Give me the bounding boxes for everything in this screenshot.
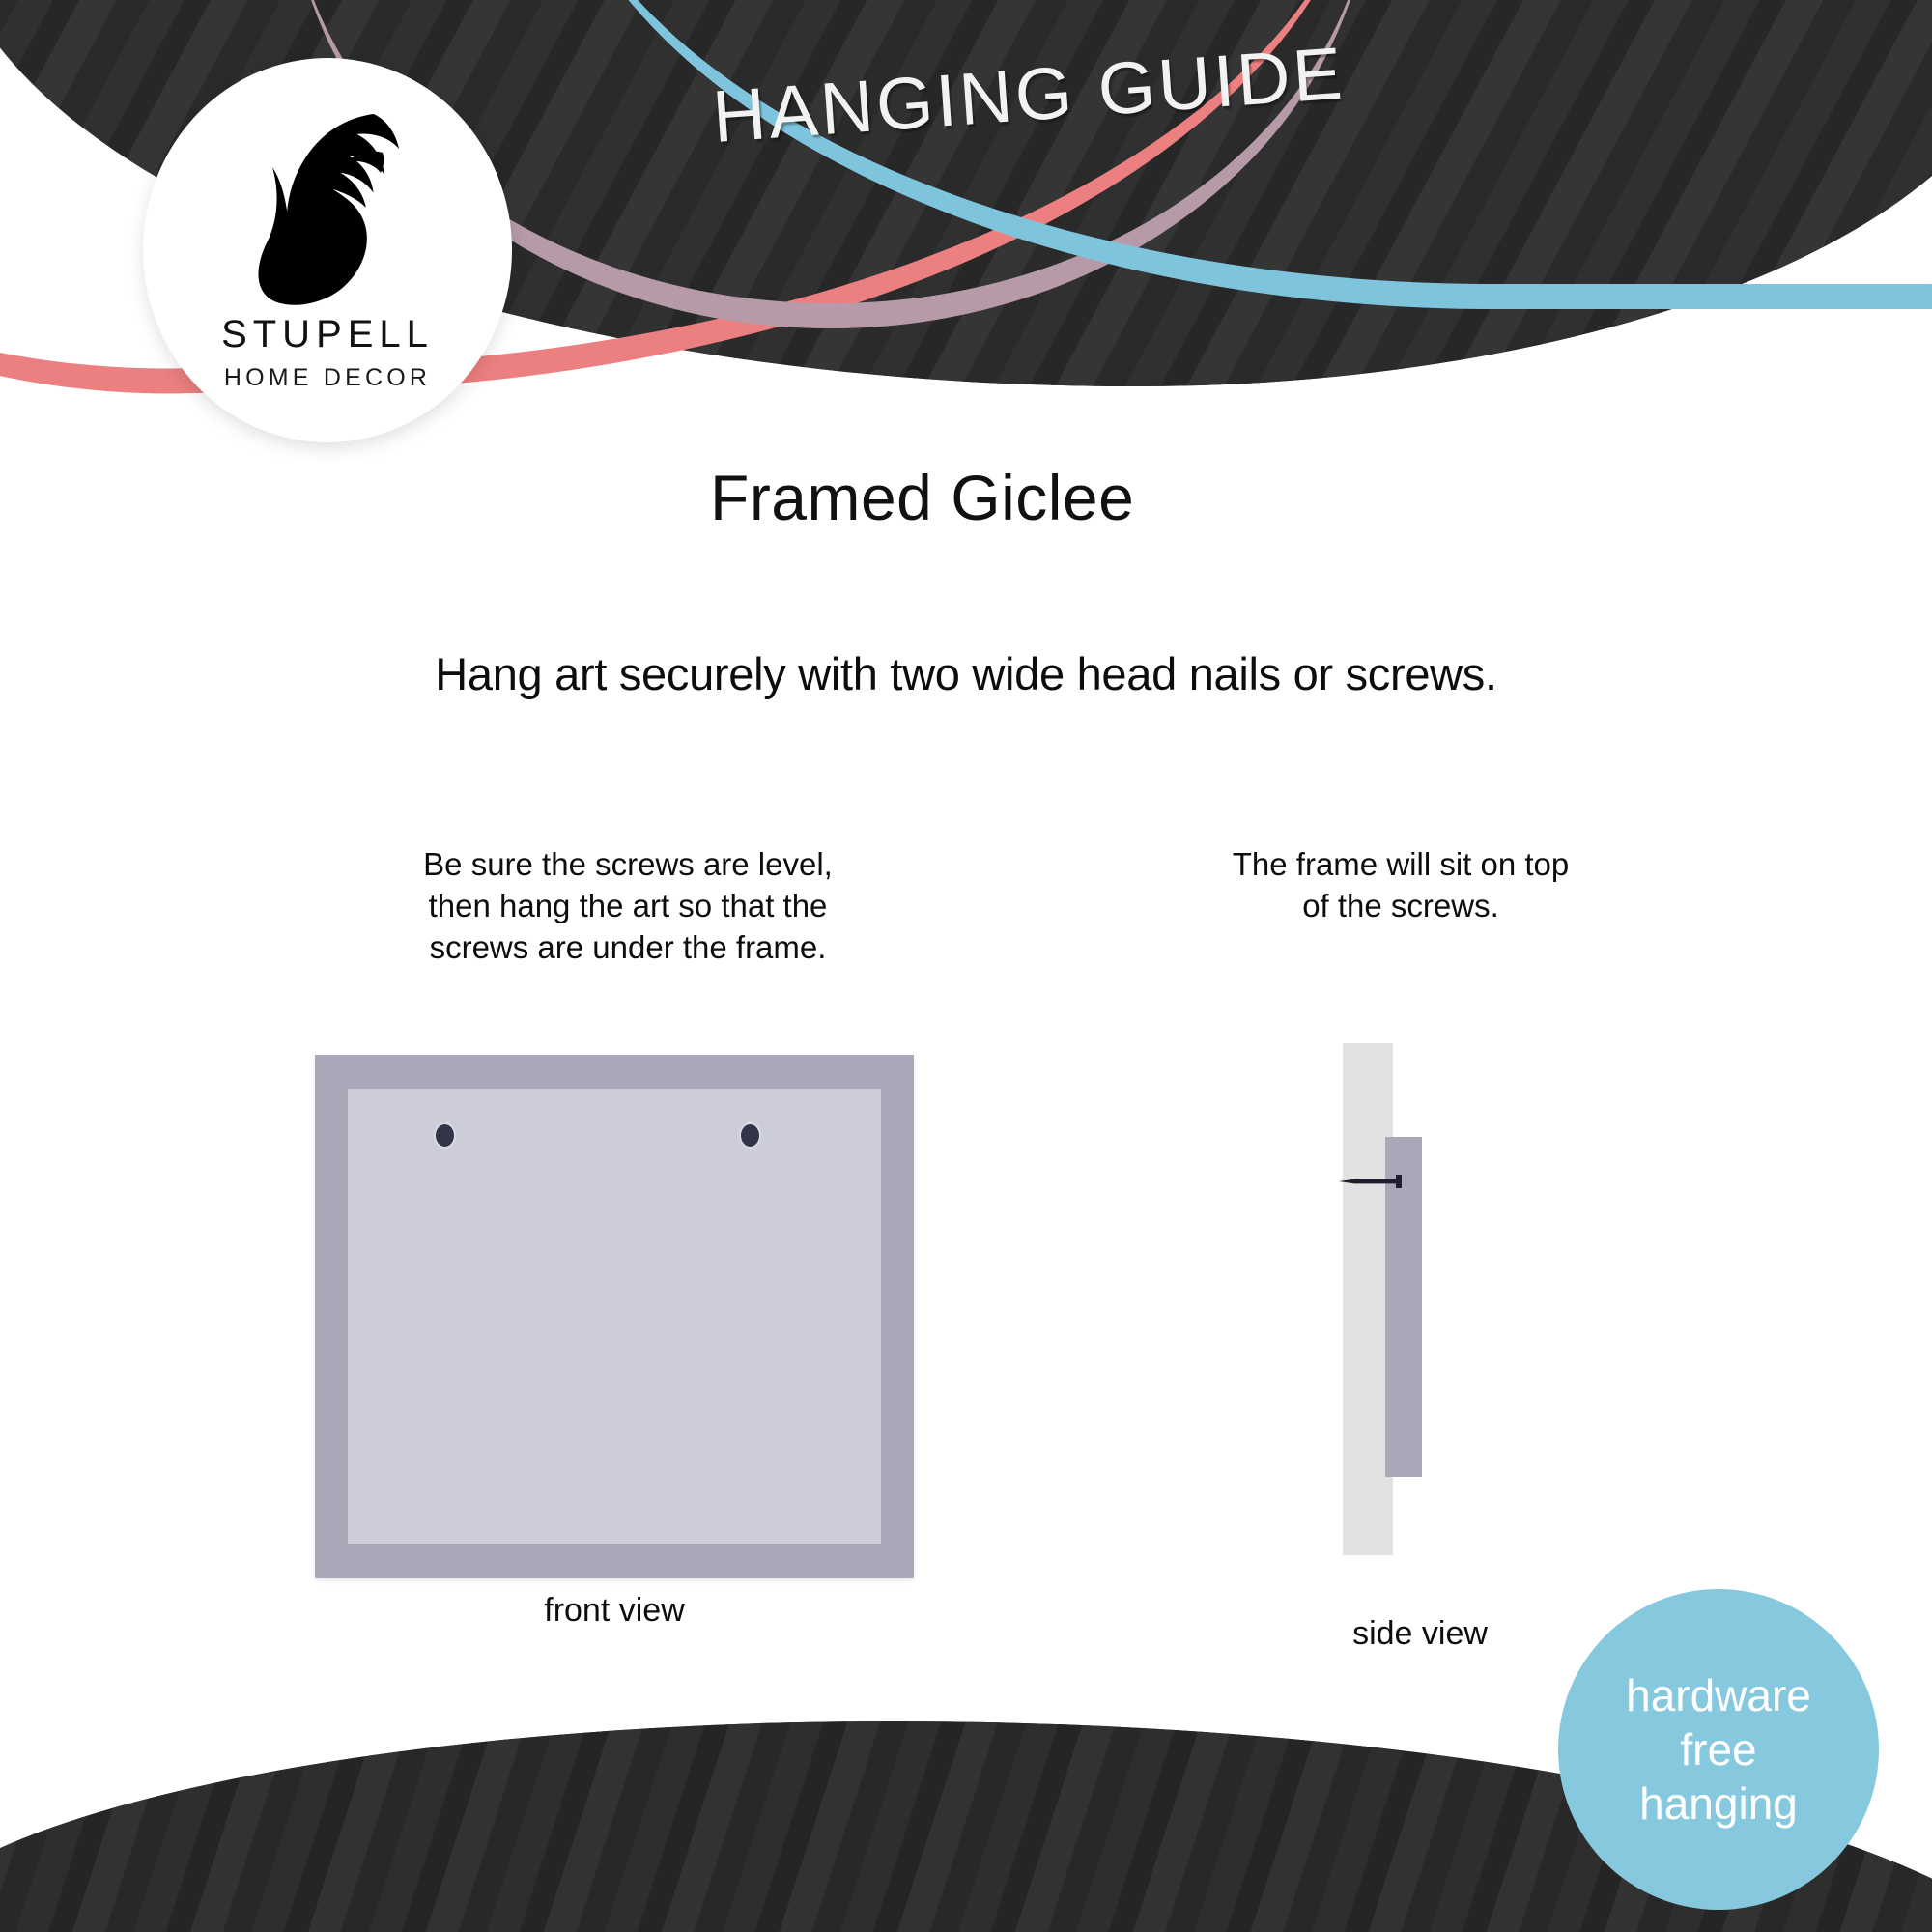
front-view-diagram	[315, 1055, 914, 1578]
front-view-caption-line1: Be sure the screws are level,	[241, 844, 1014, 886]
front-view-mat	[348, 1089, 881, 1544]
side-view-caption-line2: of the screws.	[1130, 886, 1671, 927]
brand-logo-badge: STUPELL HOME DECOR	[143, 58, 512, 442]
badge-line-2: free	[1680, 1722, 1756, 1776]
badge-line-1: hardware	[1626, 1668, 1811, 1722]
side-view-caption: The frame will sit on top of the screws.	[1130, 844, 1671, 927]
front-view-caption: Be sure the screws are level, then hang …	[241, 844, 1014, 969]
front-view-label: front view	[315, 1592, 914, 1630]
side-view-caption-line1: The frame will sit on top	[1130, 844, 1671, 886]
hardware-free-hanging-badge: hardware free hanging	[1558, 1589, 1879, 1910]
side-view-label: side view	[1256, 1615, 1584, 1653]
screw-hole-left-icon	[436, 1124, 454, 1147]
front-view-caption-line2: then hang the art so that the	[241, 886, 1014, 927]
swan-s-logo-icon	[236, 104, 419, 307]
screw-hole-right-icon	[741, 1124, 759, 1147]
brand-tagline: HOME DECOR	[224, 364, 431, 392]
front-view-caption-line3: screws are under the frame.	[241, 927, 1014, 969]
product-title: Framed Giclee	[710, 461, 1134, 534]
hanging-guide-page: HANGING GUIDE STUPELL HOME DECOR Framed …	[0, 0, 1932, 1932]
instruction-lede: Hang art securely with two wide head nai…	[0, 647, 1932, 700]
brand-name: STUPELL	[221, 313, 434, 356]
side-view-diagram	[1343, 1043, 1497, 1555]
badge-line-3: hanging	[1639, 1776, 1798, 1831]
nail-icon	[1339, 1175, 1412, 1188]
